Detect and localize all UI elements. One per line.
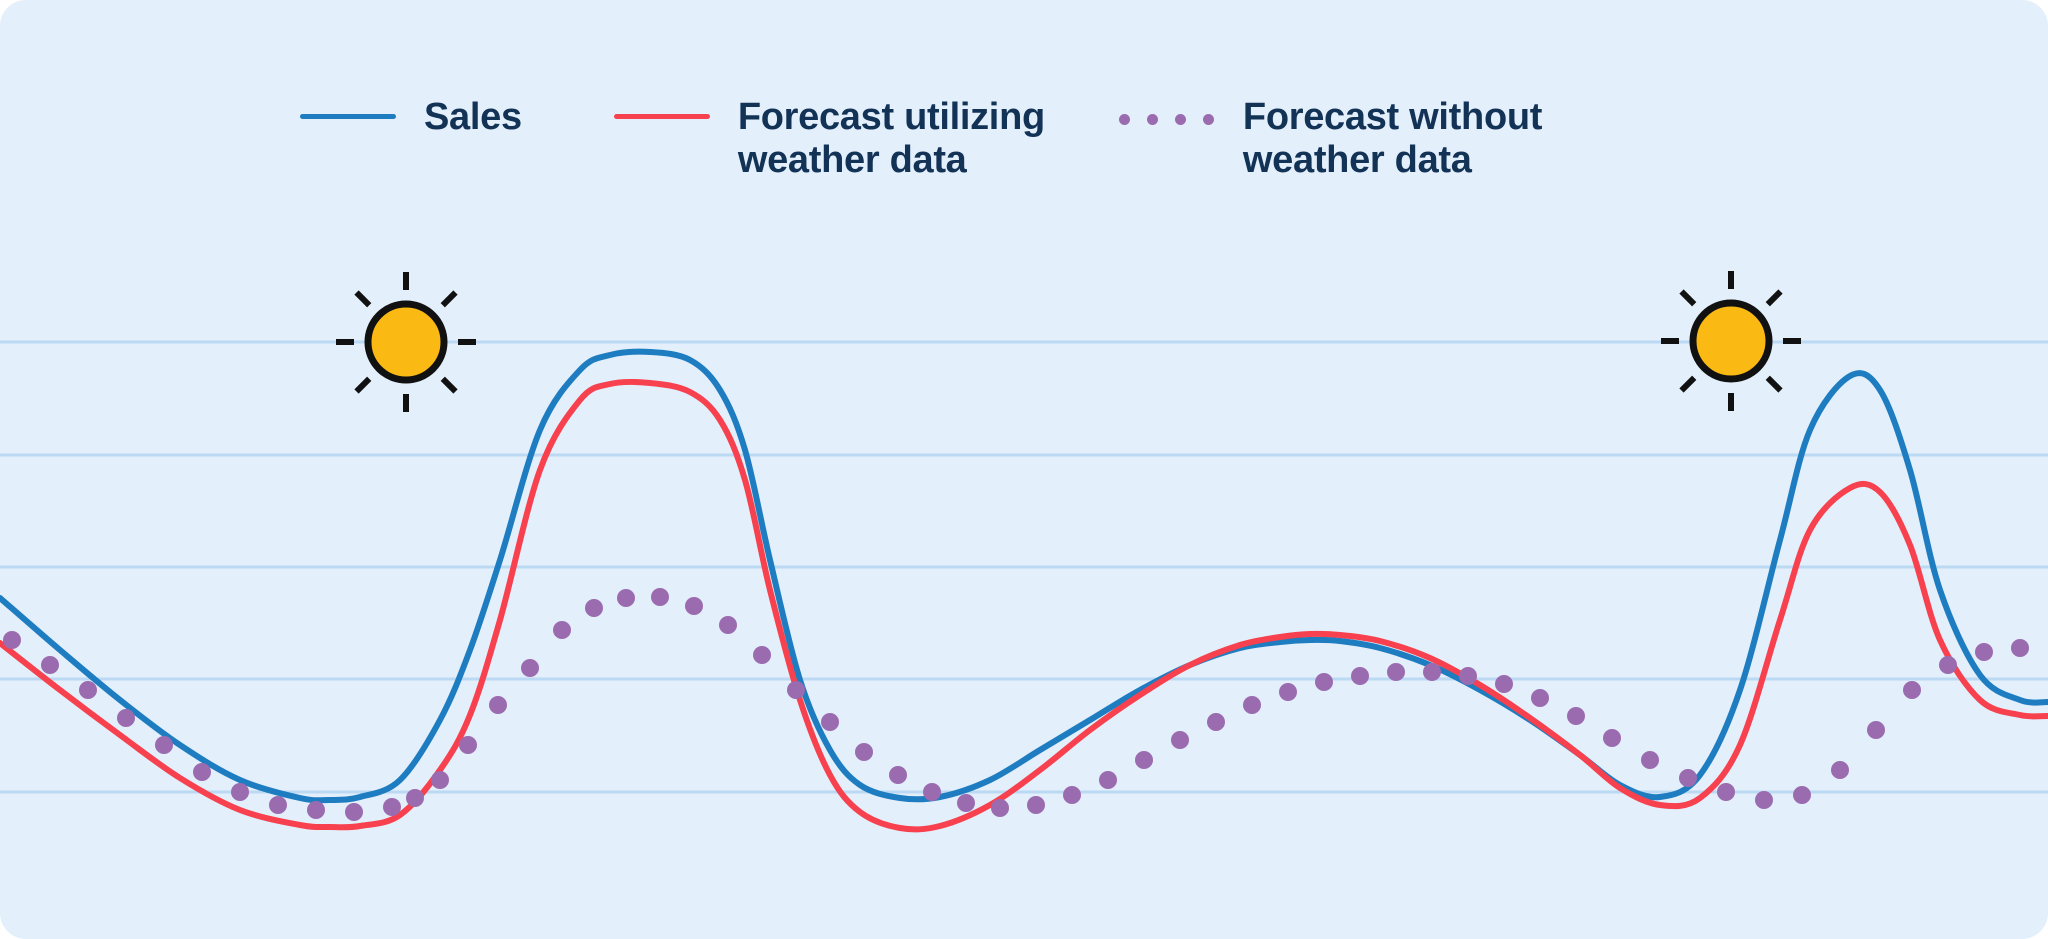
legend-item-sales[interactable]: Sales (300, 96, 522, 139)
data-point (1867, 721, 1885, 739)
data-point (1531, 689, 1549, 707)
sun-ray (357, 293, 370, 306)
series-line (0, 352, 2048, 801)
data-point (431, 771, 449, 789)
dotted-line-icon (1115, 114, 1215, 125)
data-point (685, 597, 703, 615)
sun-ray (1768, 292, 1781, 305)
sun-ray (357, 379, 370, 392)
data-point (1423, 663, 1441, 681)
data-point (1495, 675, 1513, 693)
data-point (117, 709, 135, 727)
data-point (1027, 796, 1045, 814)
data-point (1903, 681, 1921, 699)
data-point (787, 681, 805, 699)
data-point (307, 801, 325, 819)
data-point (1567, 707, 1585, 725)
data-point (406, 789, 424, 807)
data-point (991, 799, 1009, 817)
data-point (1831, 761, 1849, 779)
data-point (155, 736, 173, 754)
data-point (489, 696, 507, 714)
data-point (1207, 713, 1225, 731)
data-point (231, 783, 249, 801)
data-point (651, 588, 669, 606)
legend-label-forecast-with-weather: Forecast utilizing weather data (738, 96, 1045, 181)
sun-ray (1768, 378, 1781, 391)
chart-screenshot: Sales Forecast utilizing weather data Fo… (0, 0, 2048, 939)
data-point (1171, 731, 1189, 749)
sun-body (368, 304, 444, 380)
data-point (79, 681, 97, 699)
data-point (1793, 786, 1811, 804)
legend-swatch-forecast-with-weather (614, 114, 710, 119)
data-point (1603, 729, 1621, 747)
data-point (585, 599, 603, 617)
data-point (1279, 683, 1297, 701)
data-point (1939, 656, 1957, 674)
data-point (1063, 786, 1081, 804)
data-point (1679, 769, 1697, 787)
data-point (1099, 771, 1117, 789)
data-point (193, 763, 211, 781)
data-point (821, 713, 839, 731)
data-point (1243, 696, 1261, 714)
sun-ray (443, 379, 456, 392)
legend-swatch-sales (300, 114, 396, 119)
data-point (1315, 673, 1333, 691)
data-point (1135, 751, 1153, 769)
gridlines (0, 342, 2048, 792)
chart-legend: Sales Forecast utilizing weather data Fo… (300, 96, 1542, 181)
data-point (1717, 783, 1735, 801)
data-point (1755, 791, 1773, 809)
data-point (1641, 751, 1659, 769)
data-point (753, 646, 771, 664)
legend-swatch-forecast-without-weather (1115, 114, 1215, 125)
series-layer (0, 352, 2048, 830)
data-point (1387, 663, 1405, 681)
data-point (2011, 639, 2029, 657)
legend-item-forecast-without-weather[interactable]: Forecast without weather data (1115, 96, 1542, 181)
data-point (1459, 667, 1477, 685)
data-point (459, 736, 477, 754)
data-point (617, 589, 635, 607)
data-point (1351, 667, 1369, 685)
legend-label-forecast-without-weather: Forecast without weather data (1243, 96, 1542, 181)
data-point (41, 656, 59, 674)
series-1 (0, 352, 2048, 801)
data-point (1975, 643, 1993, 661)
sun-ray (1682, 378, 1695, 391)
data-point (855, 743, 873, 761)
data-point (383, 798, 401, 816)
data-point (269, 796, 287, 814)
data-point (345, 803, 363, 821)
legend-label-sales: Sales (424, 96, 522, 139)
data-point (521, 659, 539, 677)
data-point (719, 616, 737, 634)
data-point (3, 631, 21, 649)
sun-ray (443, 293, 456, 306)
data-point (553, 621, 571, 639)
legend-item-forecast-with-weather[interactable]: Forecast utilizing weather data (614, 96, 1045, 181)
sun-body (1693, 303, 1769, 379)
chart-card: Sales Forecast utilizing weather data Fo… (0, 0, 2048, 939)
sun-ray (1682, 292, 1695, 305)
data-point (923, 783, 941, 801)
data-point (957, 794, 975, 812)
data-point (889, 766, 907, 784)
